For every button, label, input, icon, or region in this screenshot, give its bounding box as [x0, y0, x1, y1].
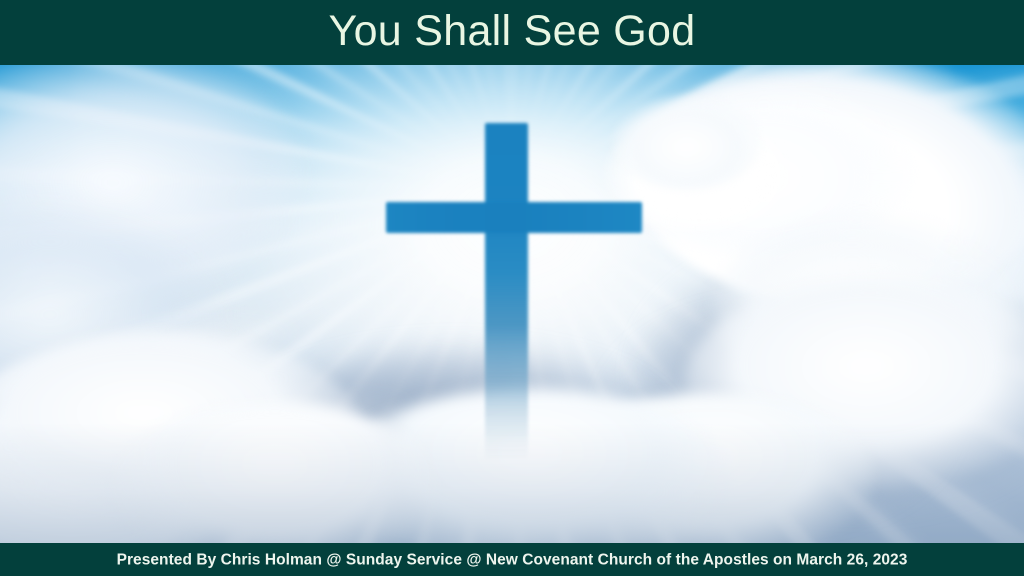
cross-horizontal-bar [386, 202, 642, 233]
presentation-slide: You Shall See God [0, 0, 1024, 576]
slide-caption-bar: Presented By Chris Holman @ Sunday Servi… [0, 543, 1024, 576]
cross-icon [0, 65, 1024, 543]
slide-caption: Presented By Chris Holman @ Sunday Servi… [117, 552, 908, 568]
cross-vertical-bar [485, 123, 528, 461]
slide-background-image [0, 65, 1024, 543]
slide-title: You Shall See God [329, 10, 696, 53]
slide-title-bar: You Shall See God [0, 0, 1024, 65]
